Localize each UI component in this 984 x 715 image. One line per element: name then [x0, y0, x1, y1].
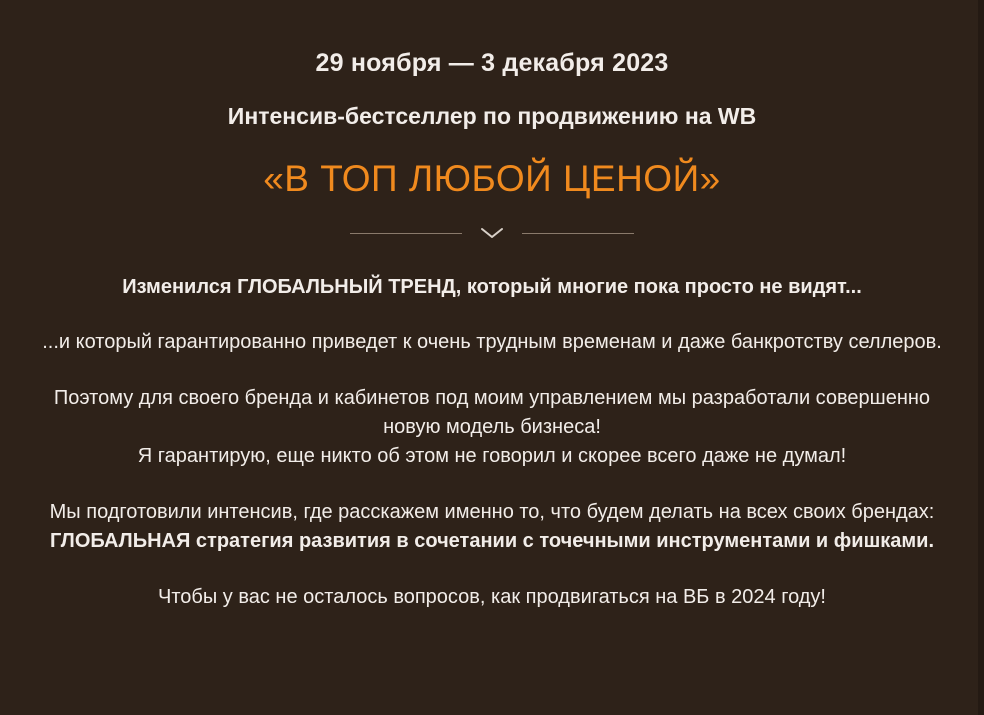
- page-title: «В ТОП ЛЮБОЙ ЦЕНОЙ»: [263, 158, 721, 201]
- paragraph-consequence: ...и который гарантированно приведет к о…: [42, 328, 942, 357]
- section-divider: [42, 225, 942, 241]
- paragraph-new-model-line-1: Поэтому для своего бренда и кабинетов по…: [42, 384, 942, 442]
- paragraph-closing: Чтобы у вас не осталось вопросов, как пр…: [42, 583, 942, 612]
- lead-statement: Изменился ГЛОБАЛЬНЫЙ ТРЕНД, который мног…: [42, 274, 942, 301]
- promo-page: 29 ноября — 3 декабря 2023 Интенсив-бест…: [0, 0, 984, 715]
- paragraph-intensive-strategy: ГЛОБАЛЬНАЯ стратегия развития в сочетани…: [42, 527, 942, 556]
- right-edge-strip: [978, 0, 984, 715]
- paragraph-new-model: Поэтому для своего бренда и кабинетов по…: [42, 384, 942, 471]
- chevron-down-icon: [479, 225, 505, 241]
- divider-line-right: [522, 233, 634, 234]
- event-date-range: 29 ноября — 3 декабря 2023: [315, 48, 668, 78]
- paragraph-intensive-line-1: Мы подготовили интенсив, где расскажем и…: [42, 498, 942, 527]
- paragraph-intensive: Мы подготовили интенсив, где расскажем и…: [42, 498, 942, 556]
- body-content: Изменился ГЛОБАЛЬНЫЙ ТРЕНД, который мног…: [42, 241, 942, 612]
- event-subtitle: Интенсив-бестселлер по продвижению на WB: [228, 103, 756, 131]
- divider-line-left: [350, 233, 462, 234]
- paragraph-new-model-line-2: Я гарантирую, еще никто об этом не говор…: [42, 442, 942, 471]
